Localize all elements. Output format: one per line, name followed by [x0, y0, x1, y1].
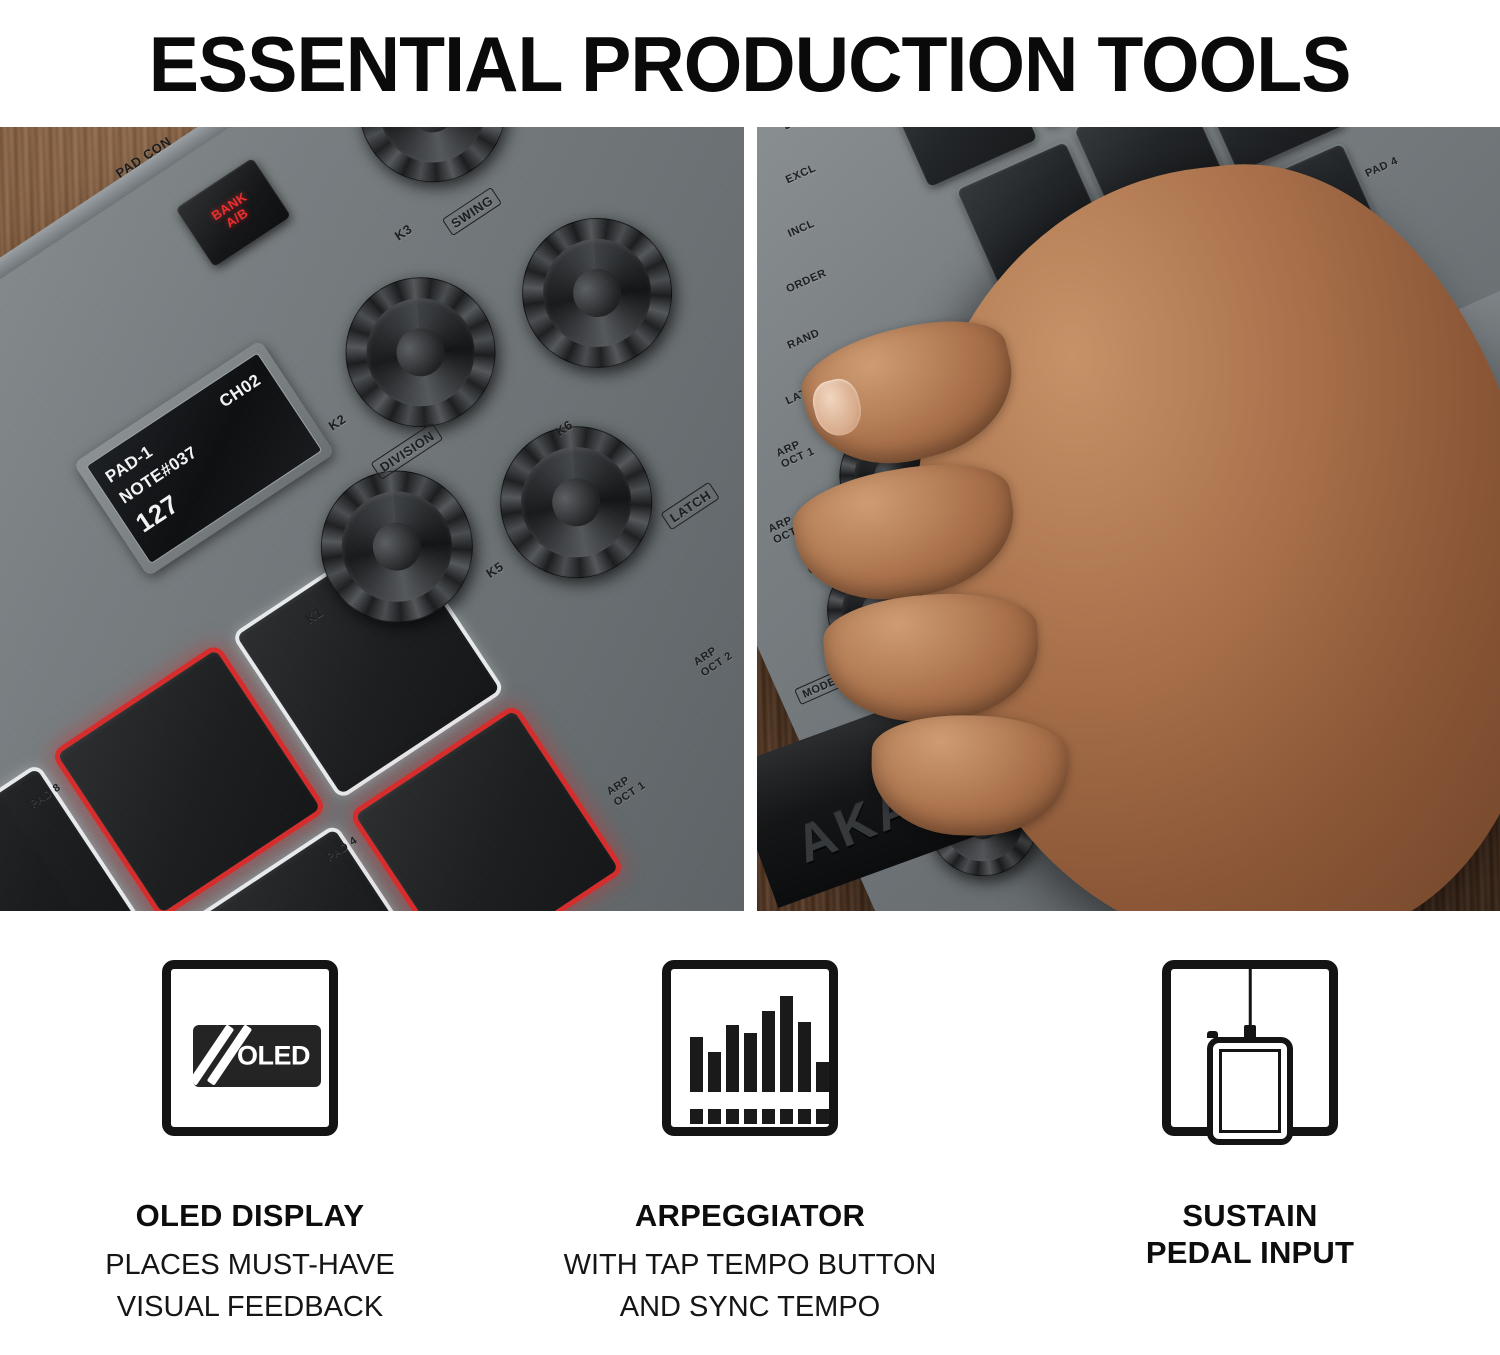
sustain-pedal-icon	[1162, 960, 1338, 1136]
eq-base-square	[726, 1109, 739, 1124]
label-right-pad-4: PAD 4	[1364, 155, 1400, 180]
eq-base-square	[690, 1109, 703, 1124]
page-title-bar: ESSENTIAL PRODUCTION TOOLS	[0, 0, 1500, 127]
feature-title-oled: OLED DISPLAY	[136, 1198, 365, 1235]
controller-body-left: PAD-1 NOTE#037 127 CH02 BANK A/B CC PAD …	[0, 127, 744, 911]
feature-sustain-pedal-input: SUSTAIN PEDAL INPUT	[1000, 960, 1500, 1355]
eq-bar	[762, 1011, 775, 1092]
label-down: DOWN	[782, 127, 821, 132]
pedal-icon-plate	[1219, 1049, 1281, 1133]
button-bank-a-b-label: BANK A/B	[209, 190, 257, 234]
feature-title-line: SUSTAIN	[1146, 1198, 1354, 1235]
eq-base-square	[762, 1109, 775, 1124]
oled-screen-icon: OLED	[162, 960, 338, 1136]
product-feature-page: ESSENTIAL PRODUCTION TOOLS	[0, 0, 1500, 1355]
eq-base-square	[816, 1109, 829, 1124]
label-division: DIVISION	[371, 423, 444, 480]
product-photo-strip: PAD-1 NOTE#037 127 CH02 BANK A/B CC PAD …	[0, 127, 1500, 911]
eq-bar	[744, 1033, 757, 1092]
label-pad-8: PAD 8	[28, 781, 63, 810]
eq-bar	[726, 1025, 739, 1092]
feature-subtitle-line: WITH TAP TEMPO BUTTON	[564, 1244, 937, 1286]
eq-bar	[708, 1052, 721, 1092]
oled-line-note: NOTE#037	[116, 442, 201, 508]
pad-3	[176, 829, 439, 911]
oled-display-bezel: PAD-1 NOTE#037 127 CH02	[73, 340, 335, 577]
feature-title-arpeggiator: ARPEGGIATOR	[635, 1198, 865, 1235]
photo-right-controller-with-hand: BANK A/B CC PROG CHANGE PROG SELECT PAD …	[757, 127, 1500, 911]
button-bank-a-b[interactable]: BANK A/B	[176, 158, 291, 267]
page-title: ESSENTIAL PRODUCTION TOOLS	[149, 25, 1351, 103]
equalizer-bars-group	[690, 989, 820, 1124]
equalizer-bars-icon	[662, 960, 838, 1136]
oled-display-screen: PAD-1 NOTE#037 127 CH02	[86, 352, 323, 564]
knob-k3	[331, 127, 533, 211]
oled-line-value: 127	[130, 488, 185, 539]
feature-subtitle-oled: PLACES MUST-HAVE VISUAL FEEDBACK	[105, 1244, 395, 1328]
pedal-icon-cable	[1249, 969, 1252, 1029]
label-excl: EXCL	[784, 162, 818, 186]
eq-bar	[690, 1037, 703, 1092]
oled-icon-label: OLED	[237, 1041, 310, 1072]
label-rand: RAND	[786, 327, 822, 352]
label-incl: INCL	[786, 218, 817, 240]
feature-subtitle-line: VISUAL FEEDBACK	[105, 1286, 395, 1328]
label-k5: K5	[483, 559, 506, 581]
oled-line-channel: CH02	[216, 370, 265, 412]
eq-bar	[780, 996, 793, 1092]
eq-base-square	[780, 1109, 793, 1124]
pad-2	[0, 768, 141, 911]
label-arp-oct-2: ARP OCT 2	[692, 639, 735, 680]
label-latch: LATCH	[660, 482, 719, 531]
label-right-arp-oct-1: ARP OCT 1	[774, 434, 816, 470]
feature-subtitle-line: PLACES MUST-HAVE	[105, 1244, 395, 1286]
feature-subtitle-arpeggiator: WITH TAP TEMPO BUTTON AND SYNC TEMPO	[564, 1244, 937, 1328]
label-order: ORDER	[784, 267, 828, 295]
label-k1: K1	[302, 604, 325, 626]
knob-k1	[292, 441, 503, 652]
label-k3: K3	[392, 221, 415, 243]
feature-title-sustain: SUSTAIN PEDAL INPUT	[1146, 1198, 1354, 1271]
eq-base-square	[708, 1109, 721, 1124]
feature-list: OLED OLED DISPLAY PLACES MUST-HAVE VISUA…	[0, 960, 1500, 1355]
eq-base-square	[744, 1109, 757, 1124]
pad-7	[355, 710, 618, 911]
feature-title-line: PEDAL INPUT	[1146, 1235, 1354, 1272]
pad-4	[237, 531, 500, 794]
feature-oled-display: OLED OLED DISPLAY PLACES MUST-HAVE VISUA…	[0, 960, 500, 1355]
eq-bar	[798, 1022, 811, 1092]
feature-arpeggiator: ARPEGGIATOR WITH TAP TEMPO BUTTON AND SY…	[500, 960, 1000, 1355]
knob-k2	[317, 248, 525, 456]
label-k2: K2	[326, 411, 349, 433]
eq-bar	[816, 1062, 829, 1092]
pad-8	[57, 650, 320, 911]
oled-icon-screen: OLED	[193, 1025, 321, 1087]
label-arp-oct-1: ARP OCT 1	[605, 768, 648, 809]
pad-right-7	[887, 127, 1037, 187]
oled-line-pad: PAD-1	[102, 442, 157, 488]
knob-k6	[493, 189, 701, 397]
photo-left-controller-closeup: PAD-1 NOTE#037 127 CH02 BANK A/B CC PAD …	[0, 127, 744, 911]
label-pad-4: PAD 4	[324, 835, 359, 864]
fingernail-index	[808, 375, 866, 440]
eq-base-square	[798, 1109, 811, 1124]
knob-k5	[471, 397, 682, 608]
feature-subtitle-line: AND SYNC TEMPO	[564, 1286, 937, 1328]
pedal-icon-nub	[1207, 1031, 1218, 1038]
label-swing: SWING	[442, 187, 502, 236]
label-k6: K6	[553, 417, 576, 439]
